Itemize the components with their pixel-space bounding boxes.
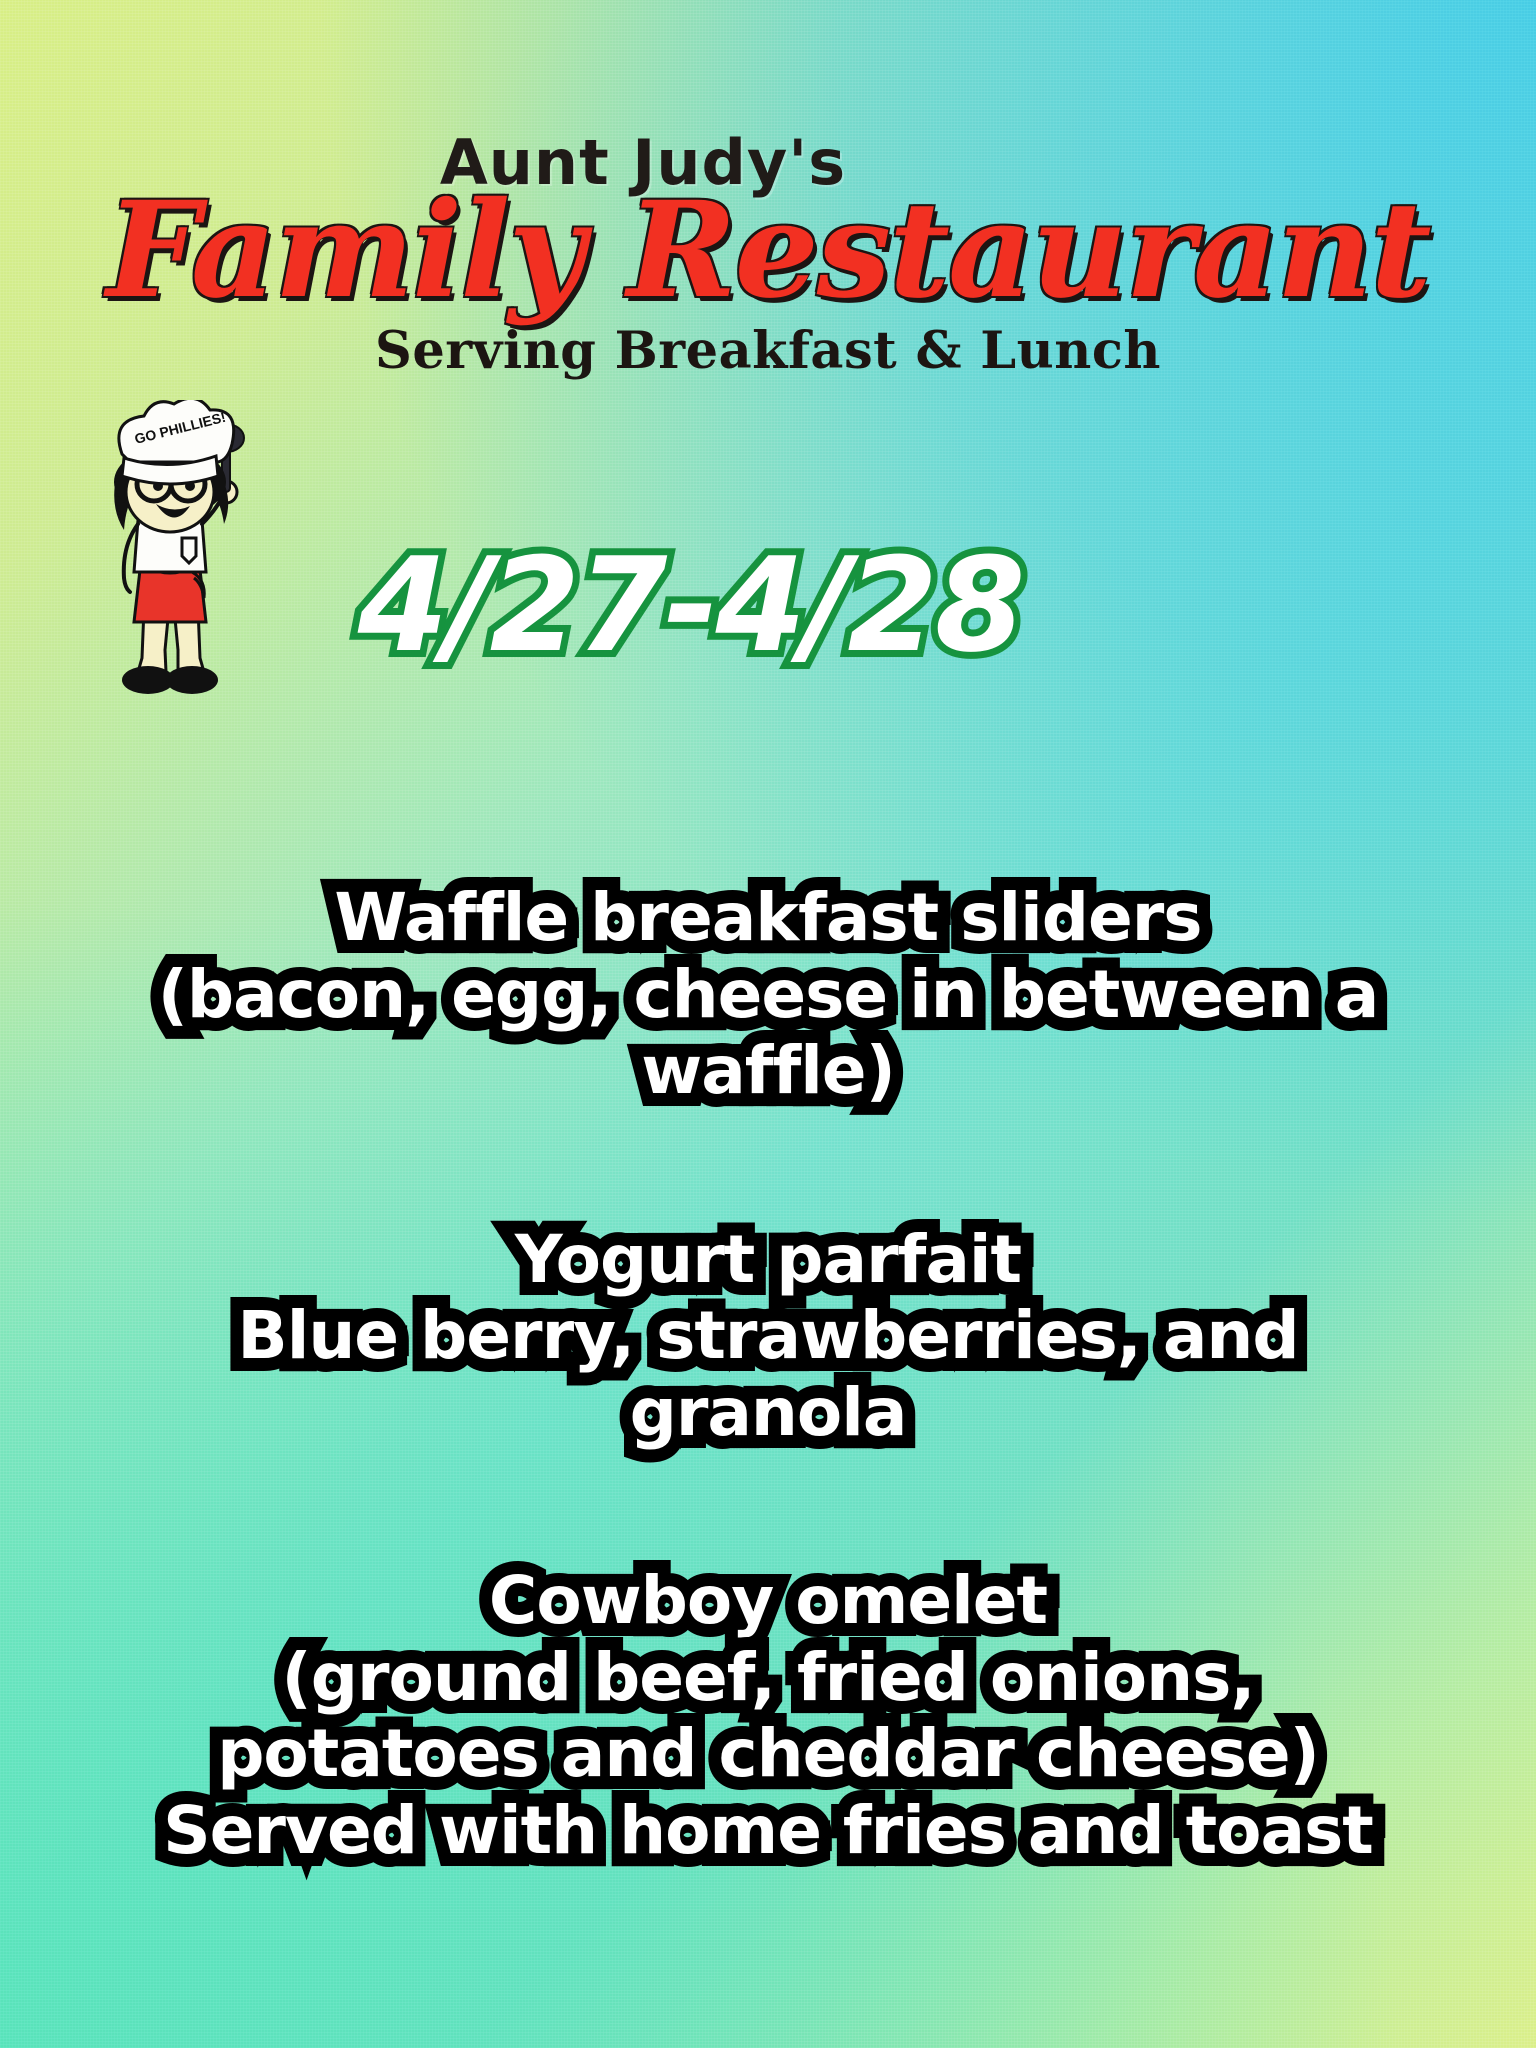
restaurant-logo: Aunt Judy's Family Restaurant Serving Br… (0, 132, 1536, 381)
menu-line: Blue berry, strawberries, and (0, 1298, 1536, 1375)
menu-line: granola (0, 1375, 1536, 1452)
menu-line: Waffle breakfast sliders (0, 880, 1536, 957)
menu-line: Yogurt parfait (0, 1222, 1536, 1299)
menu-line: (bacon, egg, cheese in between a (0, 957, 1536, 1034)
menu-line: Cowboy omelet (0, 1563, 1536, 1640)
logo-line-family-restaurant: Family Restaurant (0, 188, 1536, 313)
chef-mascot-icon: GO PHILLIES! (70, 400, 270, 700)
date-banner: 4/27-4/28 (340, 540, 1040, 670)
menu-line: potatoes and cheddar cheese) (0, 1716, 1536, 1793)
menu-line: Served with home fries and toast (0, 1793, 1536, 1870)
menu-poster: Aunt Judy's Family Restaurant Serving Br… (0, 0, 1536, 2048)
menu-item-yogurt-parfait: Yogurt parfait Blue berry, strawberries,… (0, 1222, 1536, 1452)
menu-item-cowboy-omelet: Cowboy omelet (ground beef, fried onions… (0, 1563, 1536, 1869)
logo-tagline: Serving Breakfast & Lunch (0, 321, 1536, 381)
chef-mascot: GO PHILLIES! (70, 400, 270, 700)
menu-line: (ground beef, fried onions, (0, 1640, 1536, 1717)
menu-item-waffle-breakfast-sliders: Waffle breakfast sliders (bacon, egg, ch… (0, 880, 1536, 1110)
menu-line: waffle) (0, 1033, 1536, 1110)
menu-items-list: Waffle breakfast sliders (bacon, egg, ch… (0, 880, 1536, 1869)
